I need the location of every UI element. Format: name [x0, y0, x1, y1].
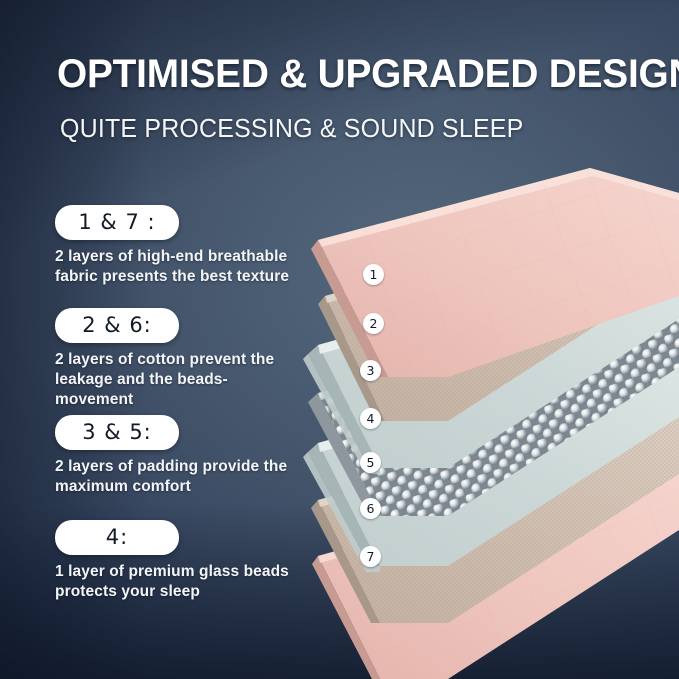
callout-chip-label-2: 2 & 6: [82, 315, 152, 336]
callout-chip-label-1: 1 & 7 : [78, 212, 155, 233]
layer-2-shape [318, 197, 679, 421]
layer-badge-5: 5 [360, 452, 381, 473]
layer-badge-7: 7 [360, 546, 381, 567]
layer-3-shape [303, 244, 679, 474]
callout-chip-3: 3 & 5: [55, 415, 179, 450]
heading-block: OPTIMISED & UPGRADED DESIGN QUITE PROCES… [57, 52, 679, 144]
page-subtitle: QUITE PROCESSING & SOUND SLEEP [60, 113, 679, 144]
callout-text-4: 1 layer of premium glass beads protects … [55, 562, 300, 602]
callout-chip-1: 1 & 7 : [55, 205, 179, 240]
page-title: OPTIMISED & UPGRADED DESIGN [57, 52, 679, 97]
callout-item-1: 1 & 7 : 2 layers of high-end breathable … [55, 205, 355, 287]
callout-chip-label-4: 4: [106, 527, 128, 548]
callout-chip-2: 2 & 6: [55, 308, 179, 343]
layer-badge-6: 6 [360, 498, 381, 519]
callout-chip-4: 4: [55, 520, 179, 555]
layer-badge-4: 4 [360, 408, 381, 429]
layer-badge-2: 2 [363, 313, 384, 334]
infographic-stage: 1 2 3 4 5 6 7 OPTIMISED & UPGRADED DESIG… [0, 0, 679, 679]
layer-7-shape [312, 455, 679, 679]
callout-chip-label-3: 3 & 5: [82, 422, 152, 443]
callout-item-4: 4: 1 layer of premium glass beads protec… [55, 520, 355, 602]
layer-badge-3: 3 [360, 360, 381, 381]
callout-text-3: 2 layers of padding provide the maximum … [55, 457, 300, 497]
callout-text-2: 2 layers of cotton prevent the leakage a… [55, 350, 300, 409]
callout-item-2: 2 & 6: 2 layers of cotton prevent the le… [55, 308, 355, 409]
layer-5-shape [303, 342, 679, 572]
layer-badge-1: 1 [363, 264, 384, 285]
callout-text-1: 2 layers of high-end breathable fabric p… [55, 247, 300, 287]
callout-item-3: 3 & 5: 2 layers of padding provide the m… [55, 415, 355, 497]
